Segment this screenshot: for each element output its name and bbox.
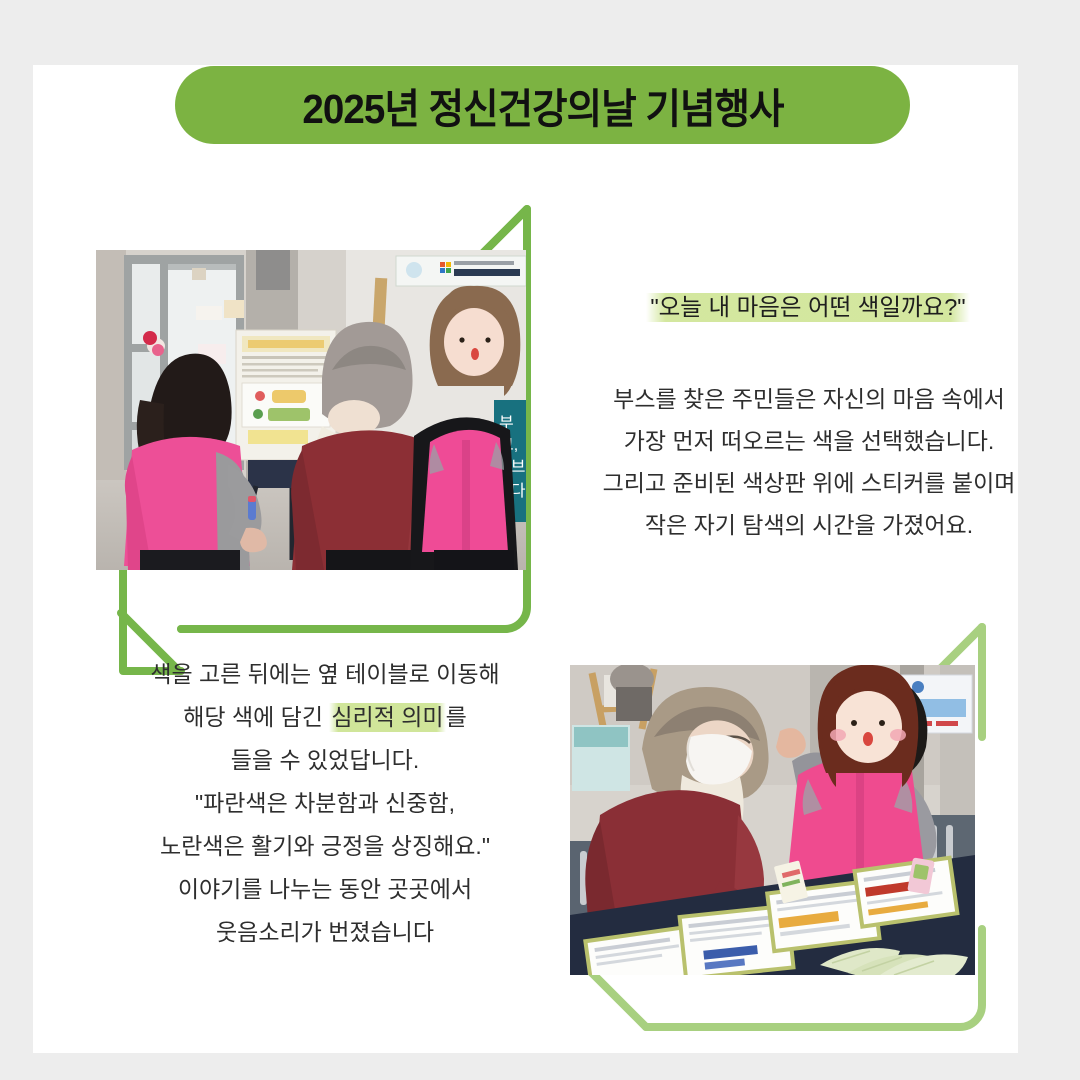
bracket2-diagonal-lower-left [588,969,646,1027]
body-one-line-1: 부스를 찾은 주민들은 자신의 마음 속에서 [570,378,1048,420]
section-one-quote: "오늘 내 마음은 어떤 색일까요?" [646,293,969,322]
section-one-quote-wrap: "오늘 내 마음은 어떤 색일까요?" [573,290,1043,325]
booth-poster-photo: 부 고, 로브 니다. [96,250,526,570]
body-two-line-4: "파란색은 차분함과 신중함, [95,782,555,825]
body-two-line-7: 웃음소리가 번졌습니다 [95,911,555,954]
page-title-pill: 2025년 정신건강의날 기념행사 [175,66,910,144]
body-one-line-2: 가장 먼저 떠오르는 색을 선택했습니다. [570,420,1048,462]
section-two-body: 색을 고른 뒤에는 옆 테이블로 이동해 해당 색에 담긴 심리적 의미를 들을… [95,653,555,954]
body-one-line-3: 그리고 준비된 색상판 위에 스티커를 붙이며 [570,462,1048,504]
psychological-meaning-highlight: 심리적 의미 [329,703,445,732]
body-two-line-5: 노란색은 활기와 긍정을 상징해요." [95,825,555,868]
page-title: 2025년 정신건강의날 기념행사 [302,75,783,135]
content-card: 2025년 정신건강의날 기념행사 [33,65,1018,1053]
section-one-body: 부스를 찾은 주민들은 자신의 마음 속에서 가장 먼저 떠오르는 색을 선택했… [570,378,1048,546]
body-two-line-6: 이야기를 나누는 동안 곳곳에서 [95,868,555,911]
body-two-line-3: 들을 수 있었답니다. [95,739,555,782]
body-two-line-1: 색을 고른 뒤에는 옆 테이블로 이동해 [95,653,555,696]
body-two-line-2-post: 를 [446,704,467,730]
body-one-line-4: 작은 자기 탐색의 시간을 가졌어요. [570,504,1048,546]
body-two-line-2-pre: 해당 색에 담긴 [183,704,329,730]
body-two-line-2: 해당 색에 담긴 심리적 의미를 [95,696,555,739]
color-meaning-table-photo [570,665,975,975]
